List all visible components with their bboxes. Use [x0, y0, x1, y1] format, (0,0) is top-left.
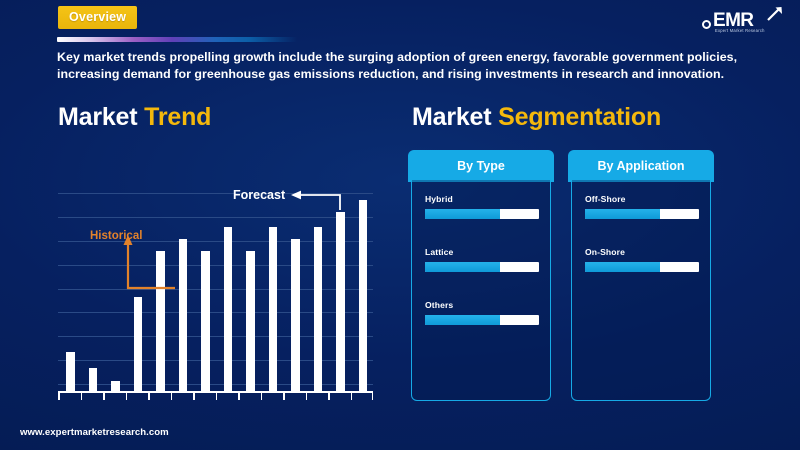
- segmentation-item[interactable]: Hybrid: [425, 194, 539, 219]
- emr-logo-tagline: Expert Market Research: [715, 28, 765, 33]
- segmentation-item-bar-fill: [425, 209, 500, 219]
- chart-axis-tick: [126, 393, 128, 400]
- segmentation-item-bar-fill: [425, 262, 500, 272]
- segmentation-item-bar: [585, 262, 699, 272]
- heading-segmentation-word1: Market: [412, 103, 491, 131]
- chart-axis-tick: [261, 393, 263, 400]
- page-title-market-trend: Market Trend: [58, 103, 211, 132]
- segmentation-item-label: Off-Shore: [585, 194, 699, 204]
- segmentation-item-bar: [425, 315, 539, 325]
- growth-arrow-icon: [766, 6, 784, 22]
- chart-axis-tick: [193, 393, 195, 400]
- chart-axis-tick: [171, 393, 173, 400]
- chart-axis-tick: [328, 393, 330, 400]
- segmentation-card-title: By Application: [568, 150, 714, 182]
- emr-logo[interactable]: EMR Expert Market Research: [702, 6, 784, 36]
- heading-segmentation-word2: Segmentation: [498, 103, 661, 131]
- chart-annotation-lines: [58, 188, 358, 338]
- segmentation-item-bar: [425, 209, 539, 219]
- chart-axis-tick: [238, 393, 240, 400]
- segmentation-item-bar-fill: [585, 262, 660, 272]
- segmentation-item-bar: [585, 209, 699, 219]
- chart-axis-tick: [306, 393, 308, 400]
- page-title-market-segmentation: Market Segmentation: [412, 103, 661, 132]
- header-gradient-divider: [57, 37, 297, 42]
- circle-dot-icon: [702, 20, 711, 29]
- chart-axis-tick: [283, 393, 285, 400]
- heading-trend-word2: Trend: [144, 103, 211, 131]
- annotation-forecast-label: Forecast: [233, 188, 285, 202]
- chart-x-axis-ticks: [58, 393, 373, 401]
- heading-trend-word1: Market: [58, 103, 137, 131]
- market-trend-bar-chart: Historical Forecast: [58, 188, 373, 396]
- segmentation-item-bar-fill: [425, 315, 500, 325]
- segmentation-card-body: Hybrid Lattice Others: [411, 180, 551, 401]
- footer-website-url[interactable]: www.expertmarketresearch.com: [20, 427, 169, 438]
- chart-axis-tick: [81, 393, 83, 400]
- chart-axis-tick: [351, 393, 353, 400]
- slide-root: Overview Key market trends propelling gr…: [0, 0, 800, 450]
- segmentation-card-by-type: By Type Hybrid Lattice Others: [408, 150, 554, 401]
- chart-bar: [89, 368, 98, 391]
- chart-bar: [111, 381, 120, 391]
- annotation-historical-label: Historical: [90, 230, 142, 242]
- chart-axis-tick: [148, 393, 150, 400]
- overview-badge: Overview: [58, 6, 137, 29]
- segmentation-item-bar: [425, 262, 539, 272]
- segmentation-item-bar-fill: [585, 209, 660, 219]
- segmentation-item-label: On-Shore: [585, 247, 699, 257]
- chart-bar: [66, 352, 75, 391]
- segmentation-card-body: Off-Shore On-Shore: [571, 180, 711, 401]
- segmentation-card-title: By Type: [408, 150, 554, 182]
- segmentation-item-label: Lattice: [425, 247, 539, 257]
- segmentation-item-label: Hybrid: [425, 194, 539, 204]
- segmentation-item-label: Others: [425, 300, 539, 310]
- chart-axis-tick: [103, 393, 105, 400]
- segmentation-card-by-application: By Application Off-Shore On-Shore: [568, 150, 714, 401]
- chart-bar: [359, 200, 368, 391]
- segmentation-item[interactable]: Others: [425, 300, 539, 325]
- segmentation-item[interactable]: On-Shore: [585, 247, 699, 272]
- intro-paragraph: Key market trends propelling growth incl…: [57, 49, 779, 82]
- chart-axis-tick: [372, 393, 374, 400]
- chart-axis-tick: [58, 393, 60, 400]
- chart-axis-tick: [216, 393, 218, 400]
- segmentation-item[interactable]: Off-Shore: [585, 194, 699, 219]
- segmentation-item[interactable]: Lattice: [425, 247, 539, 272]
